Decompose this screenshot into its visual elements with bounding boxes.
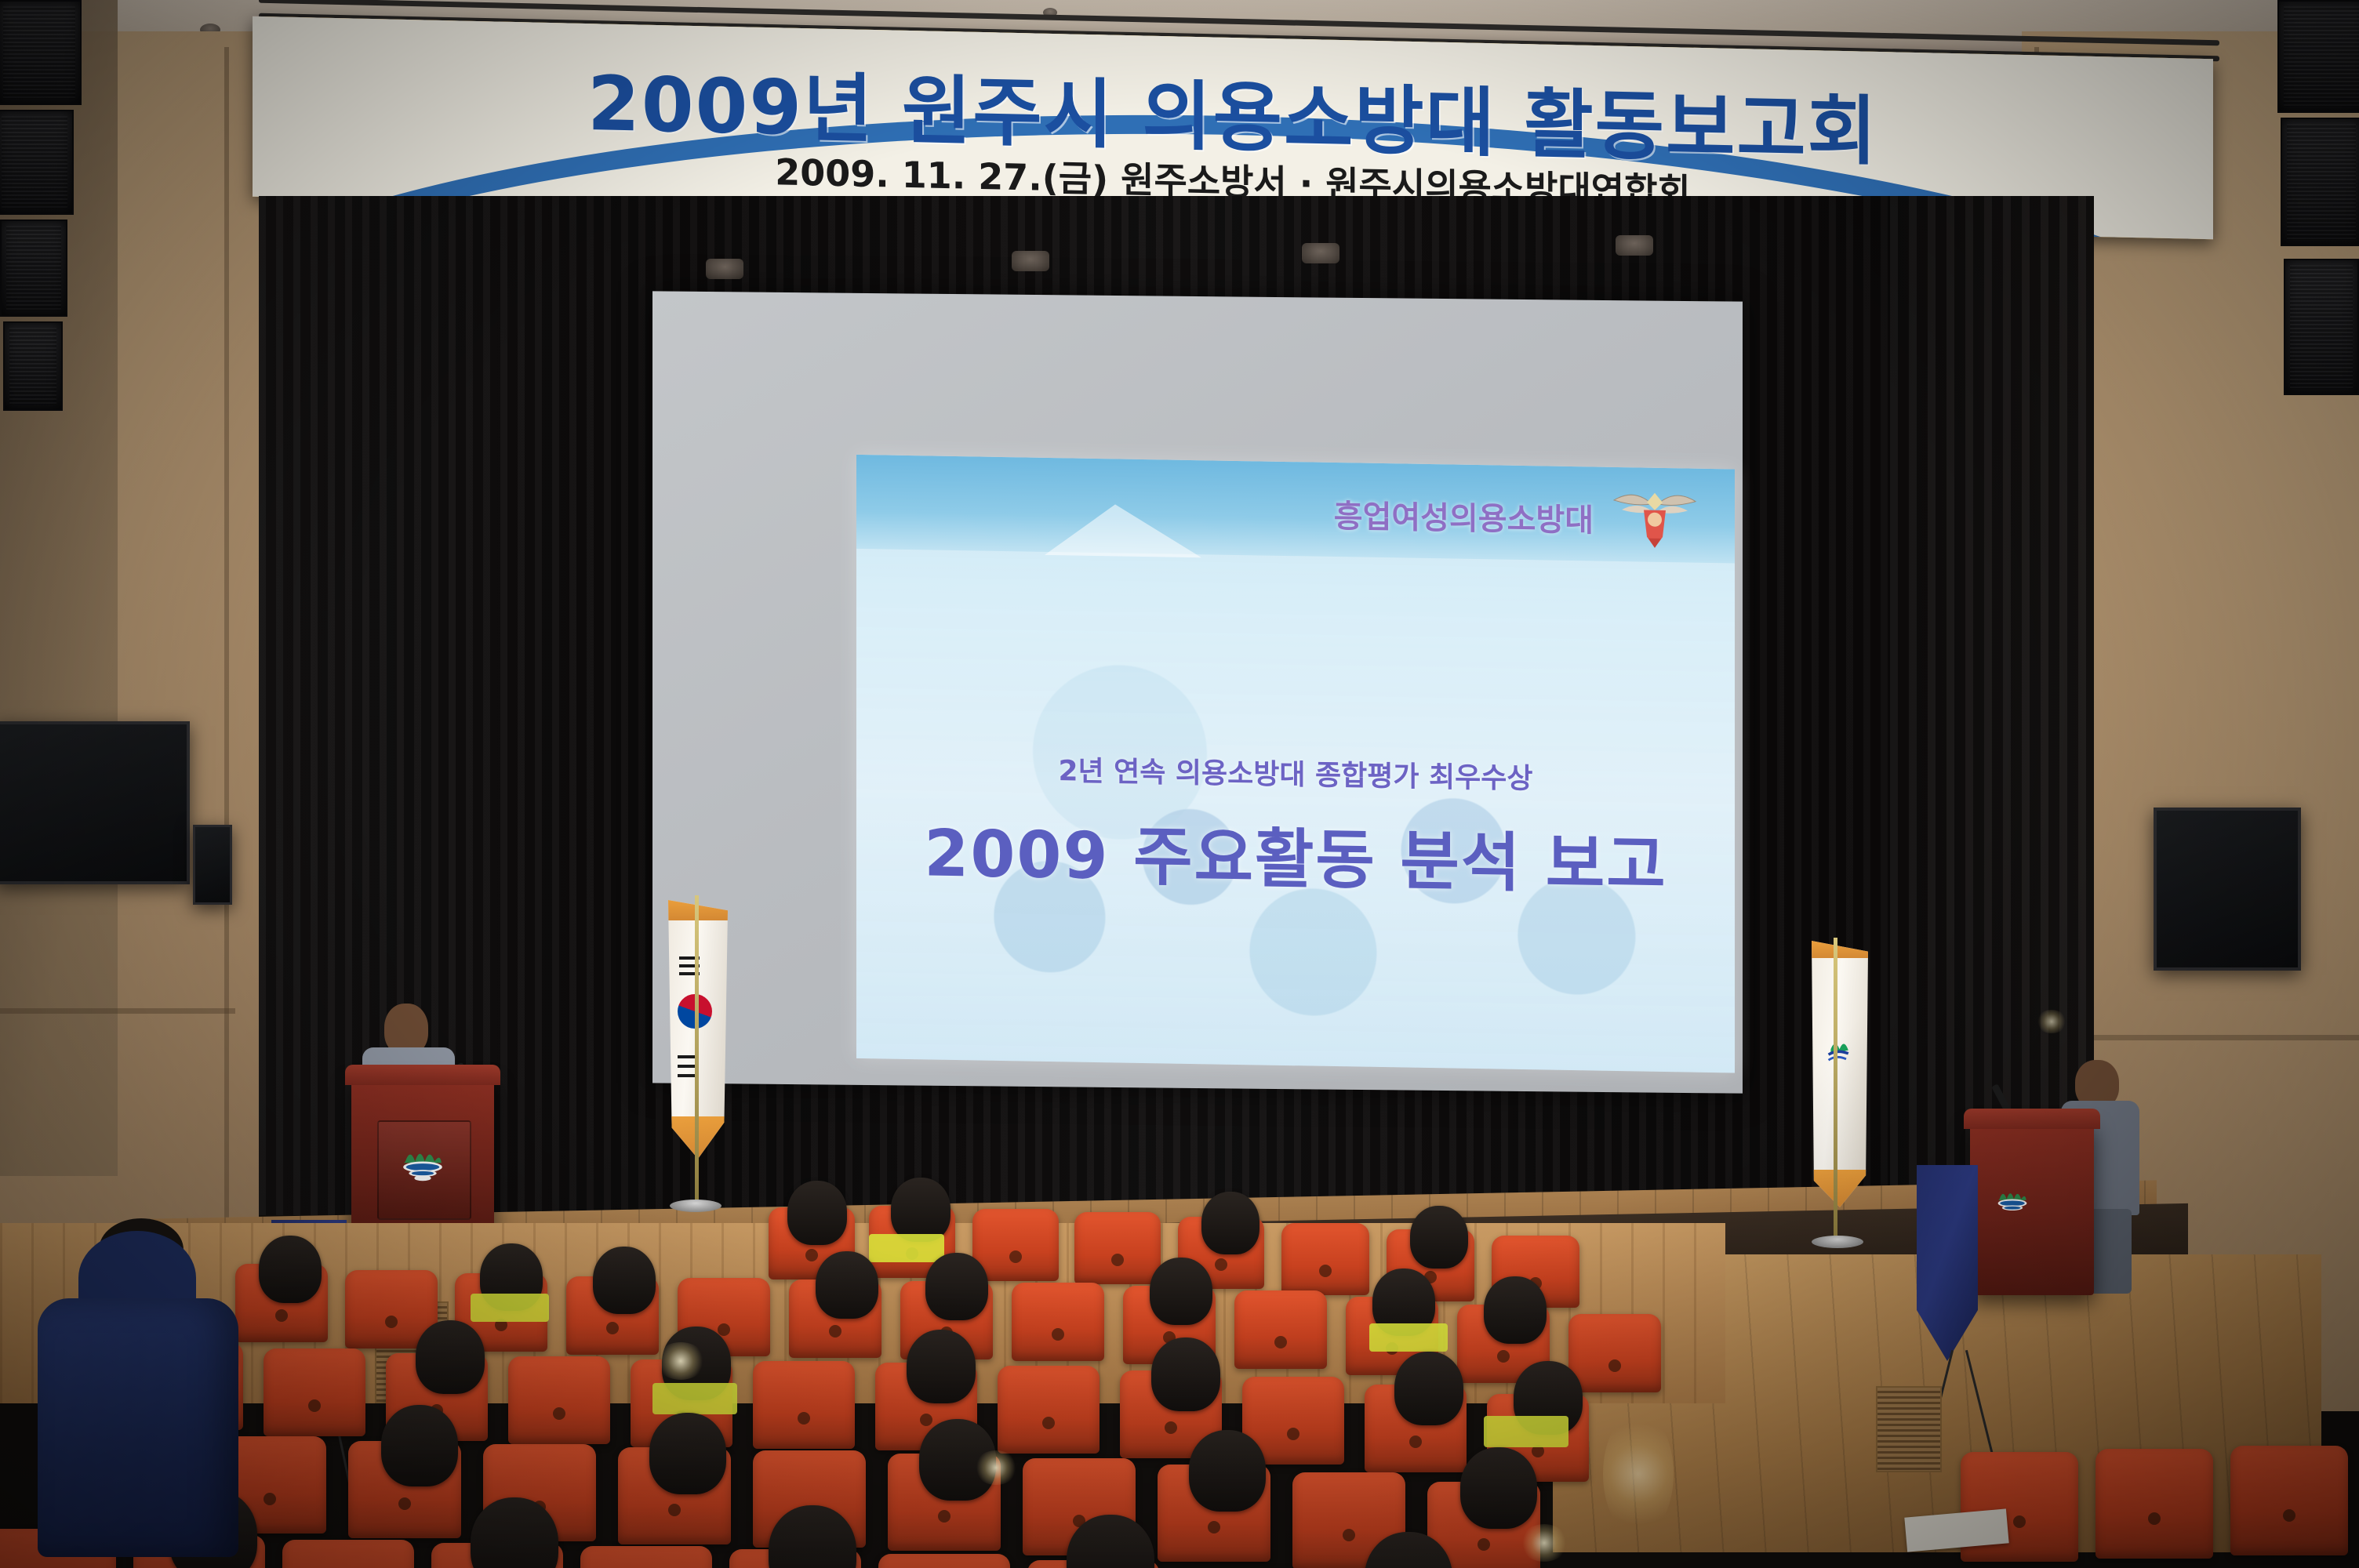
audience-head: [1394, 1352, 1463, 1425]
wonju-city-flag-emblem: [1824, 1035, 1857, 1072]
seat: [972, 1209, 1059, 1281]
wall-seam: [0, 1008, 235, 1014]
seat: [1281, 1223, 1369, 1295]
seat: [282, 1540, 414, 1568]
seat: [580, 1546, 712, 1568]
safety-vest: [1484, 1416, 1568, 1447]
flag-base: [1812, 1236, 1863, 1248]
seat: [508, 1356, 610, 1444]
audience-head: [1151, 1338, 1220, 1411]
speaker-stack: [2284, 259, 2359, 395]
stage-light-icon: [1012, 251, 1049, 271]
audience-head: [1410, 1206, 1468, 1269]
presentation-slide: 흥업여성의용소방대 2년 연속 의용소방대 종합평가 최우수상 2009 주요활…: [856, 455, 1735, 1073]
audience-head: [1460, 1447, 1537, 1529]
audience-head: [816, 1251, 878, 1319]
fire-service-eagle-emblem-icon: [1608, 480, 1702, 554]
audience-head: [1150, 1258, 1212, 1325]
audience-seating: [0, 1160, 1725, 1568]
seat: [753, 1361, 855, 1449]
auditorium-photo: 2009년 원주시 의용소방대 활동보고회 2009. 11. 27.(금) 원…: [0, 0, 2359, 1568]
seat: [1012, 1283, 1104, 1361]
safety-vest: [471, 1294, 549, 1322]
audience-head: [1189, 1430, 1266, 1512]
podium-top-surface: [345, 1065, 500, 1085]
seat: [2230, 1446, 2348, 1555]
stage-light-icon: [1616, 235, 1653, 256]
attendee-jacket: [38, 1298, 238, 1557]
speaker-stack: [3, 321, 63, 411]
seat: [998, 1366, 1100, 1454]
slide-main-title: 2009 주요활동 분석 보고: [856, 800, 1735, 908]
seat: [2095, 1449, 2213, 1559]
speaker-stack: [0, 220, 67, 317]
speaker-stack: [2277, 0, 2359, 113]
slide-sky-band: [856, 455, 1735, 564]
audience-head: [593, 1247, 656, 1314]
audience-head: [1484, 1276, 1547, 1344]
seat: [1568, 1314, 1661, 1392]
seat: [878, 1554, 1010, 1568]
podium-top-surface: [1964, 1109, 2100, 1129]
slide-organization-label: 흥업여성의용소방대: [1334, 491, 1594, 540]
audience-head: [416, 1320, 485, 1394]
speaker-stack: [0, 110, 74, 215]
audience-head: [787, 1181, 847, 1245]
wall-box: [193, 825, 232, 905]
wall-seam: [224, 47, 229, 1239]
audience-head: [925, 1253, 988, 1320]
audience-head: [891, 1178, 951, 1242]
stage-light-icon: [706, 259, 743, 279]
right-podium[interactable]: [1970, 1121, 2094, 1295]
seat: [1234, 1290, 1327, 1369]
safety-vest: [1369, 1323, 1448, 1352]
seat: [264, 1348, 365, 1436]
projection-screen: 흥업여성의용소방대 2년 연속 의용소방대 종합평가 최우수상 2009 주요활…: [652, 291, 1743, 1093]
safety-vest: [652, 1383, 737, 1414]
flag-pole: [1834, 938, 1837, 1243]
standing-attendee: [31, 1231, 243, 1568]
wall-vent: [1876, 1386, 1942, 1472]
slide-mountain-shape: [1045, 503, 1201, 557]
audience-head: [1201, 1192, 1259, 1254]
audience-head: [259, 1236, 322, 1303]
speaker-stack: [2281, 118, 2359, 246]
wonju-city-flag-icon: [1812, 941, 1868, 1207]
wall-monitor: [2154, 808, 2301, 971]
audience-head: [919, 1419, 996, 1501]
audience-head: [381, 1405, 458, 1486]
wonju-city-emblem-icon: [1994, 1184, 2030, 1219]
stage-light-icon: [1302, 243, 1339, 263]
audience-head: [649, 1413, 726, 1494]
seat: [1074, 1212, 1161, 1284]
audience-head: [907, 1330, 976, 1403]
wall-monitor: [0, 721, 190, 884]
speaker-stack: [0, 0, 82, 105]
safety-vest: [869, 1234, 944, 1262]
